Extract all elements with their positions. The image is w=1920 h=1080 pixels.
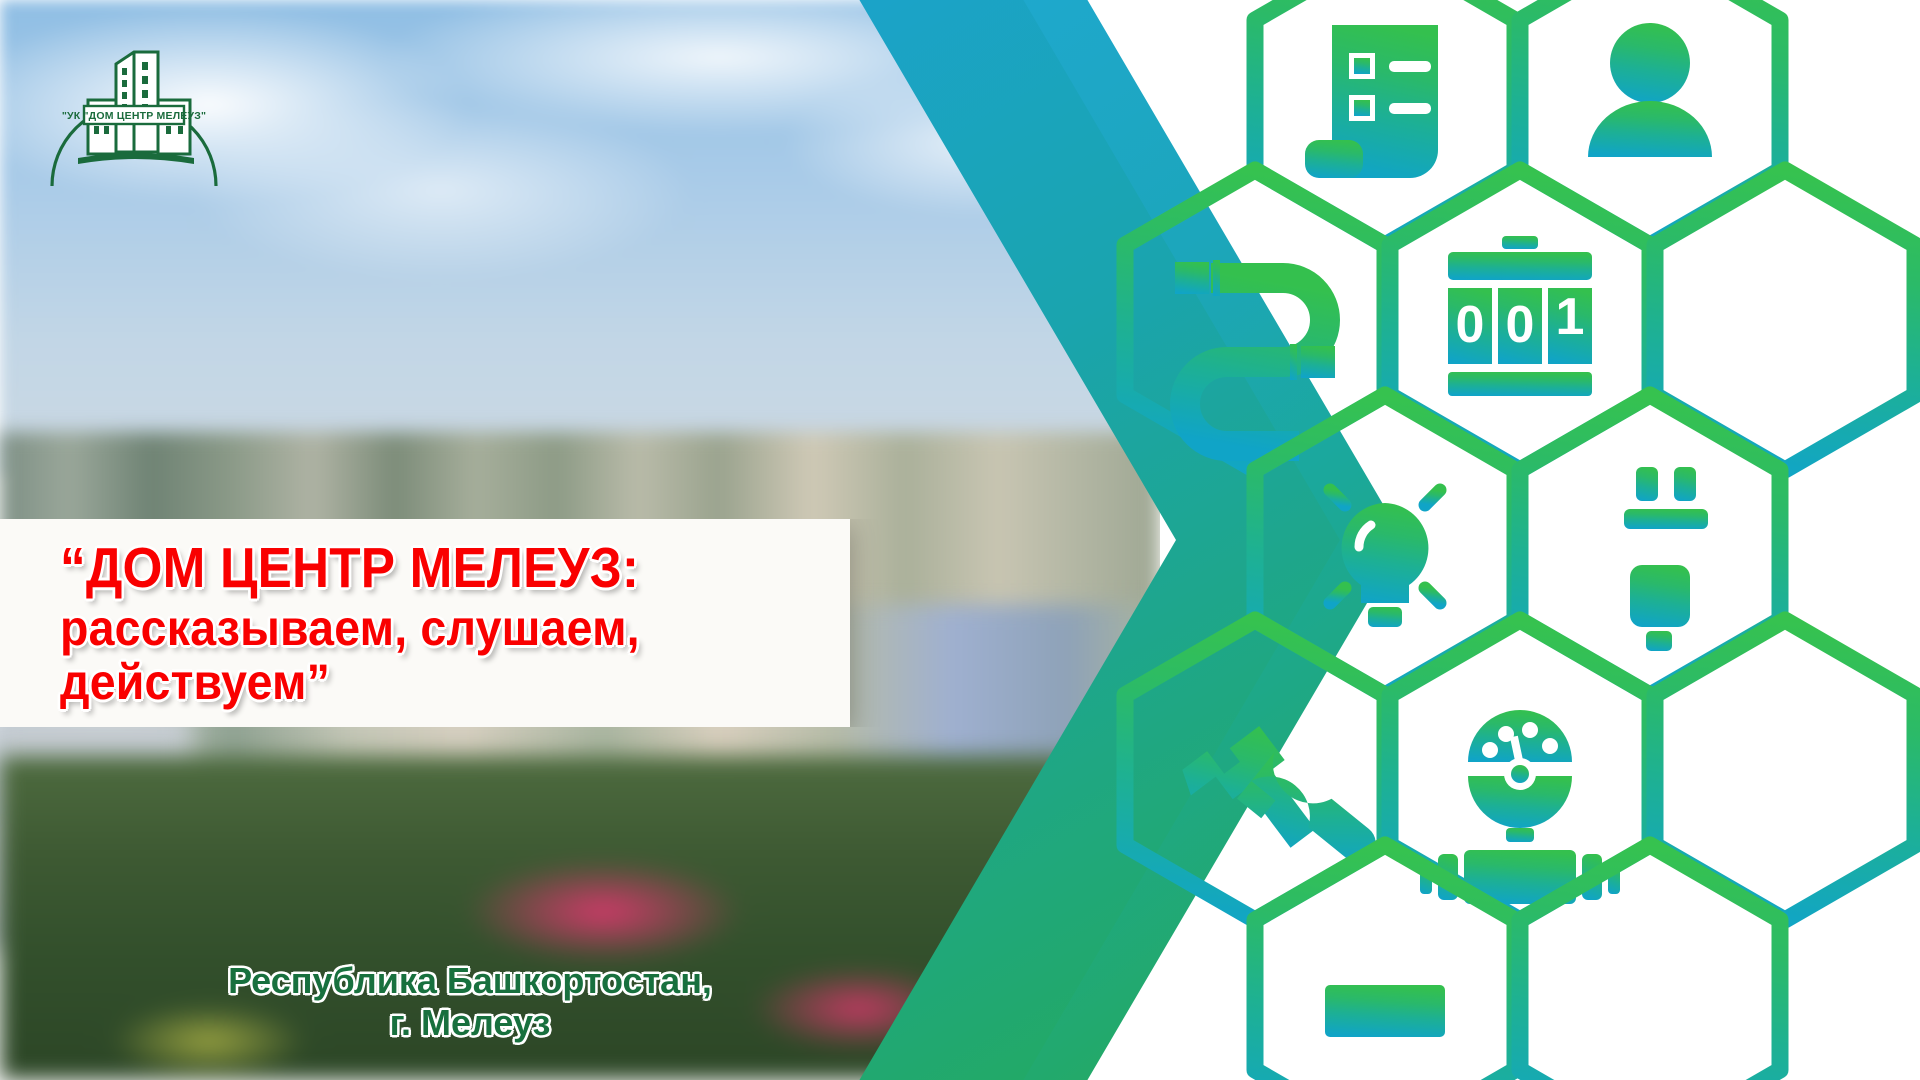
hex-cell-document — [1255, 0, 1515, 245]
svg-text:0: 0 — [1506, 296, 1535, 354]
title-line-2: рассказываем, слушаем, — [60, 603, 823, 653]
hammer-wrench-tools-icon — [1174, 716, 1378, 873]
location-line-2: г. Мелеуз — [120, 1002, 820, 1044]
company-logo[interactable]: "УК "ДОМ ЦЕНТР МЕЛЕУЗ" — [38, 22, 230, 192]
utility-meter-icon: 0 0 1 — [1448, 236, 1592, 396]
hex-cell-person — [1520, 0, 1780, 245]
plug-socket-icon — [1624, 467, 1708, 651]
hexagon-icon-grid: 0 0 1 — [1100, 0, 1920, 1080]
svg-text:0: 0 — [1456, 296, 1485, 354]
banner-stage: 0 0 1 — [0, 0, 1920, 1080]
radiator-icon — [1325, 985, 1445, 1037]
location-line-1: Республика Башкортостан, — [120, 960, 820, 1002]
logo-banner-text: "УК "ДОМ ЦЕНТР МЕЛЕУЗ" — [62, 110, 206, 122]
title-line-3: действуем” — [60, 657, 823, 707]
title-line-1: “ДОМ ЦЕНТР МЕЛЕУЗ: — [60, 540, 798, 597]
document-checklist-icon — [1305, 25, 1438, 178]
svg-text:1: 1 — [1556, 288, 1585, 346]
user-person-icon — [1588, 23, 1712, 157]
pipe-s-bend-icon — [1175, 260, 1335, 446]
title-block: “ДОМ ЦЕНТР МЕЛЕУЗ: рассказываем, слушаем… — [60, 540, 880, 711]
location-caption: Республика Башкортостан, г. Мелеуз — [120, 960, 820, 1045]
